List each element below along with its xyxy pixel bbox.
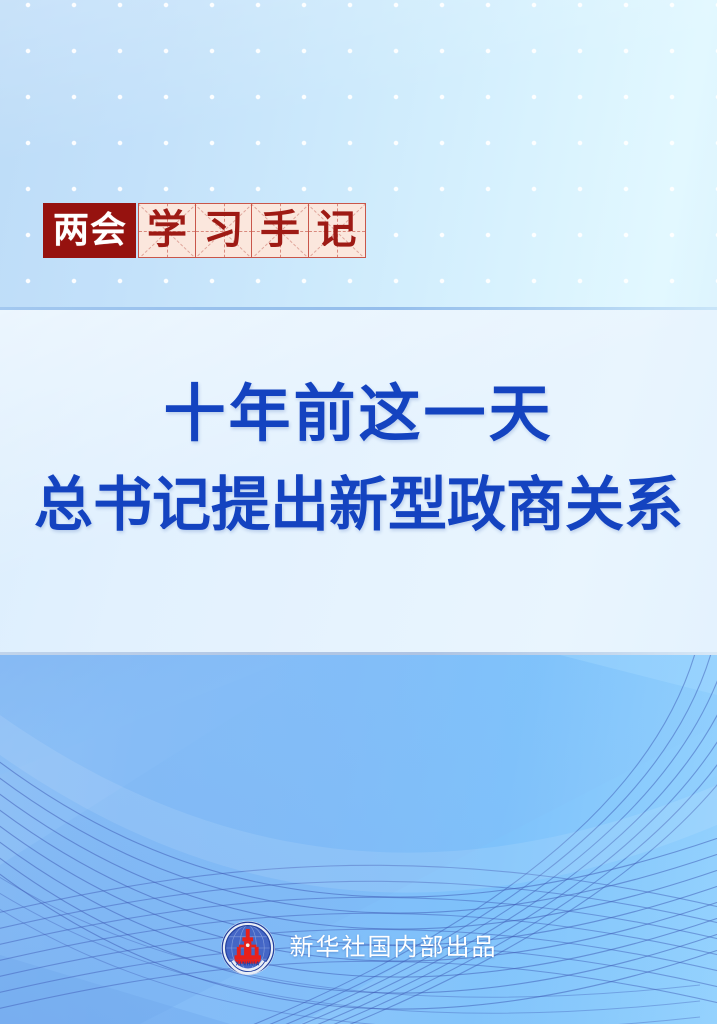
badge-cell-char: 学	[139, 204, 195, 257]
poster-title: 十年前这一天 总书记提出新型政商关系	[0, 383, 717, 534]
badge-cell: 手	[251, 203, 309, 258]
badge-cell: 记	[308, 203, 366, 258]
title-line-2: 总书记提出新型政商关系	[0, 475, 717, 534]
badge-block-label: 两会	[43, 203, 136, 258]
badge-cell-char: 习	[196, 204, 252, 257]
badge-cell-char: 记	[309, 204, 365, 257]
badge-cell-char: 手	[252, 204, 308, 257]
footer-text: 新华社国内部出品	[290, 936, 498, 960]
section-badge: 两会 学 习 手	[43, 203, 366, 258]
background-band-top	[0, 0, 717, 310]
band-top-sheen	[0, 0, 717, 310]
poster-canvas: 两会 学 习 手	[0, 0, 717, 1024]
badge-cell-group: 学 习 手 记	[136, 203, 366, 258]
title-line-1: 十年前这一天	[0, 383, 717, 445]
badge-cell: 习	[195, 203, 253, 258]
badge-cell: 学	[138, 203, 196, 258]
logo-wordmark: XINHUA	[235, 961, 260, 967]
footer-credit: XINHUA 新华社国内部出品	[0, 920, 717, 976]
xinhua-logo-icon: XINHUA	[220, 920, 276, 976]
